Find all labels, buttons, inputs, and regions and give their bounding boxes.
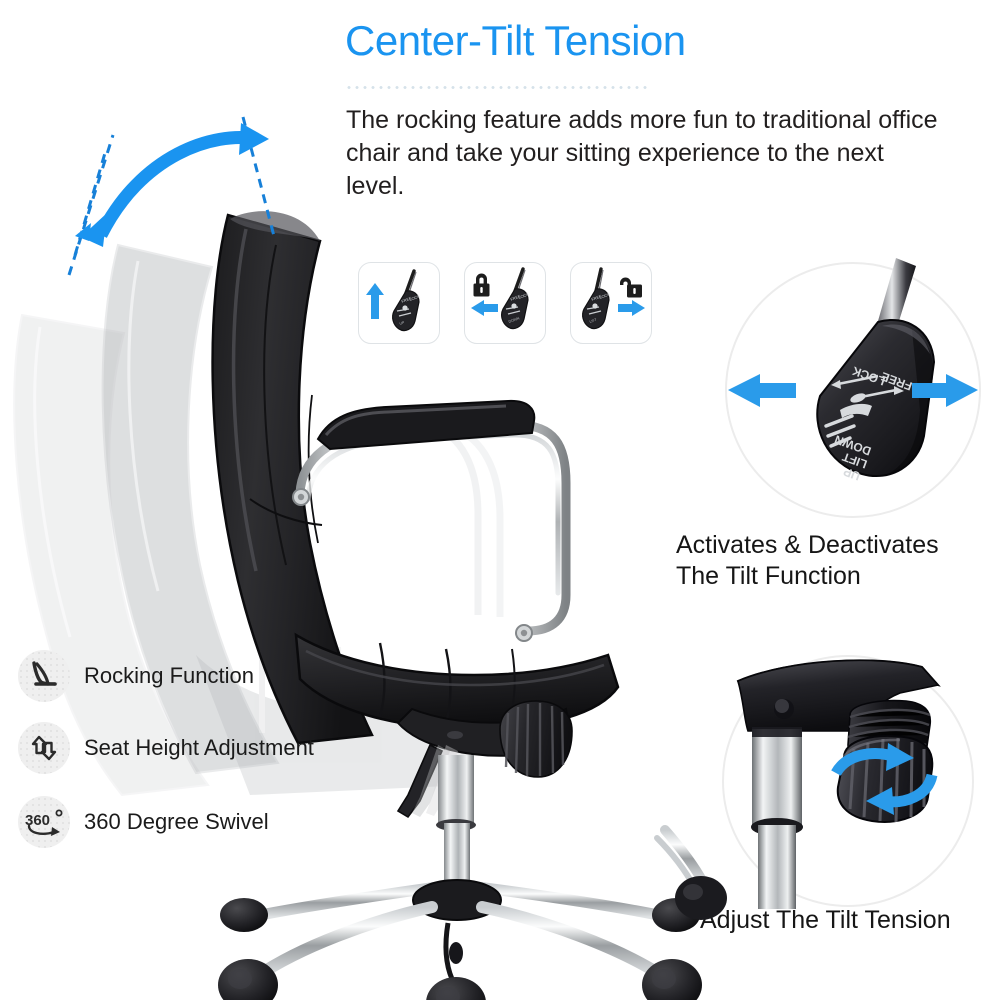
lever-card-lift-up[interactable]: FREE LOCK UP [358,262,440,344]
tension-knob-small [500,701,572,777]
arrow-left-icon [471,300,498,316]
feature-badge [18,722,70,774]
double-headed-curved-arrow [75,123,269,247]
chair-armrest [293,401,566,641]
rocking-arc-arrow [45,105,335,335]
chair-gas-cylinder [436,755,476,900]
lever-card-unlock[interactable]: FREE LOCK LIFT [570,262,652,344]
feature-badge: 360 [18,796,70,848]
tension-knob-caption: Adjust The Tilt Tension [700,905,1000,936]
feature-label: Seat Height Adjustment [84,735,314,761]
feature-badge [18,650,70,702]
swivel-360-icon: 360 [22,805,66,839]
tension-knob-detail-image [700,645,1000,915]
feature-item-rocking: Rocking Function [18,650,254,702]
lever-thumbnail-up: FREE LOCK UP [359,263,439,343]
chair-base-fragment [655,820,735,930]
infographic-canvas: Center-Tilt Tension The rocking feature … [0,0,1000,1000]
caster-rear-left [220,898,268,932]
cylinder-detail [751,727,803,909]
feature-item-swivel: 360 360 Degree Swivel [18,796,269,848]
lever-thumbnail-lock: FREE LOCK DOWN [465,263,545,343]
padlock-open-icon [620,278,642,298]
title-divider [345,86,647,89]
page-subtitle: The rocking feature adds more fun to tra… [346,104,946,203]
chair-base [218,880,702,1000]
caption-line-1: Activates & Deactivates [676,530,1000,561]
padlock-closed-icon [474,274,490,297]
feature-item-height: Seat Height Adjustment [18,722,314,774]
recline-angle-icon [27,659,61,693]
tilt-lever-caption: Activates & Deactivates The Tilt Functio… [676,530,1000,592]
tilt-lever-detail-image: LOCK FREE DOWN LIFT UP [700,250,1000,530]
page-title: Center-Tilt Tension [345,18,985,64]
up-down-arrows-icon [28,731,60,765]
arrow-right-icon [618,300,645,316]
feature-label: 360 Degree Swivel [84,809,269,835]
lever-card-lock[interactable]: FREE LOCK DOWN [464,262,546,344]
caption-line-1: Adjust The Tilt Tension [700,905,1000,936]
arrow-left-icon [728,374,796,407]
caption-line-2: The Tilt Function [676,561,1000,592]
feature-label: Rocking Function [84,663,254,689]
lever-thumbnail-unlock: FREE LOCK LIFT [571,263,651,343]
arrow-up-icon [366,283,384,319]
caster-front-center [426,977,486,1000]
